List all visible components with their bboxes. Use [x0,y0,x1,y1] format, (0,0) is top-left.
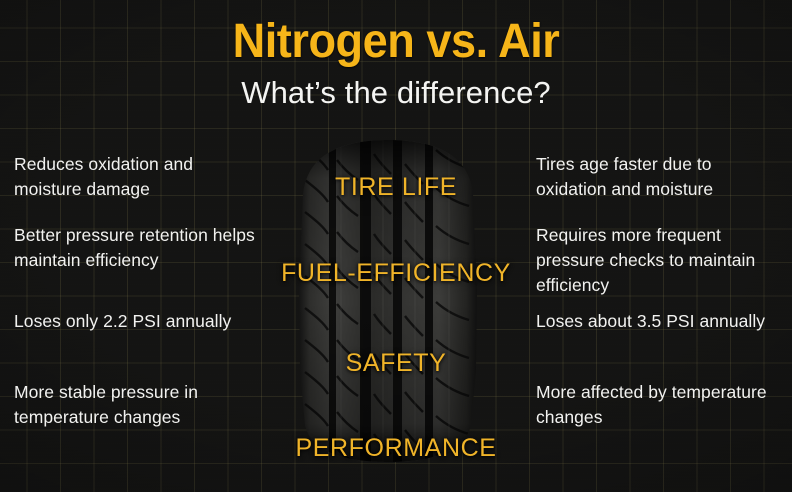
tire-illustration [297,140,479,462]
header: Nitrogen vs. Air What’s the difference? [0,14,792,112]
tire-graphic [297,140,479,462]
infographic-canvas: Nitrogen vs. Air What’s the difference? [0,0,792,492]
air-drawbacks-column: Tires age faster due to oxidation and mo… [536,152,776,438]
page-title: Nitrogen vs. Air [24,14,768,70]
nitrogen-benefit-item: Loses only 2.2 PSI annually [14,309,264,334]
air-drawback-item: More affected by temperature changes [536,380,776,430]
air-drawback-item: Loses about 3.5 PSI annually [536,309,776,334]
nitrogen-benefit-item: Reduces oxidation and moisture damage [14,152,264,202]
page-subtitle: What’s the difference? [0,74,792,112]
air-drawback-item: Tires age faster due to oxidation and mo… [536,152,776,202]
nitrogen-benefits-column: Reduces oxidation and moisture damage Be… [14,152,264,438]
nitrogen-benefit-item: Better pressure retention helps maintain… [14,223,264,273]
nitrogen-benefit-item: More stable pressure in temperature chan… [14,380,264,430]
air-drawback-item: Requires more frequent pressure checks t… [536,223,776,298]
